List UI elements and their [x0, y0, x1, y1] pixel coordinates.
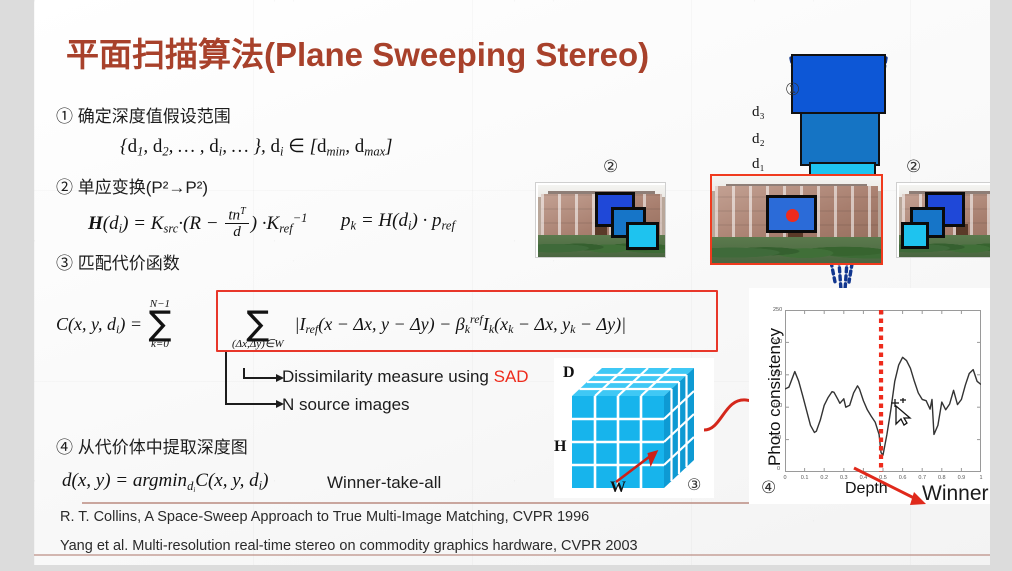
marker-warp-left: ② [603, 157, 618, 177]
chart-xtick-0.9: 0.9 [956, 475, 966, 481]
cost-volume-panel: D H W ③ [554, 358, 714, 498]
step-2: ② 单应变换(P²→P²) [56, 173, 208, 198]
annotation-n-source: N source images [282, 395, 410, 415]
warped-image-left-frame [535, 182, 666, 258]
annotation-dissimilarity: Dissimilarity measure using SAD [282, 367, 529, 387]
chart-ytick-200: 200 [773, 339, 782, 345]
slide-canvas: 平面扫描算法(Plane Sweeping Stereo) ① 确定深度值假设范… [34, 0, 990, 565]
chart-xtick-0: 0 [780, 475, 790, 481]
depth-label-2: d₂ [752, 131, 765, 148]
left-margin [0, 0, 34, 571]
cube-label-height: H [554, 438, 566, 456]
step-4: ④ 从代价体中提取深度图 [56, 433, 248, 458]
marker-warp-right: ② [906, 157, 921, 177]
depth-plane-2 [800, 112, 880, 166]
chart-y-axis-label: Photo consistency [765, 328, 785, 466]
marker-volume: ③ [687, 475, 701, 495]
reference-2: Yang et al. Multi-resolution real-time s… [60, 538, 638, 554]
marker-curve: ④ [761, 478, 776, 498]
annotation-bracket-icon [220, 352, 290, 414]
chart-xtick-1: 1 [976, 475, 986, 481]
winner-label: Winner [922, 482, 989, 506]
chart-xtick-0.2: 0.2 [819, 475, 829, 481]
step-4-marker: ④ [56, 438, 73, 457]
chart-ytick-250: 250 [773, 307, 782, 313]
page-title: 平面扫描算法(Plane Sweeping Stereo) [66, 28, 649, 76]
cube-label-width: W [610, 479, 626, 497]
step-1-label: 确定深度值假设范围 [78, 107, 231, 126]
chart-ytick-0: 0 [777, 466, 780, 472]
sigma-outer: N−1 ∑ k=0 [148, 299, 171, 350]
annotation-dissimilarity-text: Dissimilarity measure using [282, 367, 494, 386]
depth-label-3: d₃ [752, 104, 765, 121]
step-3-marker: ③ [56, 254, 73, 273]
bottom-divider [34, 554, 990, 556]
depth-plane-3 [791, 54, 886, 114]
sigma-outer-lower: k=0 [148, 339, 171, 350]
annotation-sad-label: SAD [494, 367, 529, 386]
cube-label-depth: D [563, 364, 575, 382]
sigma-inner: ∑ (Δx,Δy)∈W [232, 299, 284, 350]
chart-ytick-50: 50 [775, 435, 781, 441]
mouse-cursor-icon [889, 398, 915, 428]
chart-ytick-100: 100 [773, 403, 782, 409]
warped-image-right-frame [896, 182, 990, 258]
formula-point-map: pk = H(di) · pref [341, 210, 455, 234]
step-1: ① 确定深度值假设范围 [56, 102, 231, 127]
step-1-marker: ① [56, 107, 73, 126]
step-4-label: 从代价体中提取深度图 [78, 438, 248, 457]
step-2-label: 单应变换(P²→P²) [78, 178, 208, 197]
slide-screen: 平面扫描算法(Plane Sweeping Stereo) ① 确定深度值假设范… [0, 0, 1012, 571]
formula-argmin: d(x, y) = argmindiC(x, y, di) [62, 470, 268, 494]
chart-plot-area [785, 310, 981, 472]
chart-xtick-0.1: 0.1 [800, 475, 810, 481]
right-margin [990, 0, 1012, 571]
chart-ytick-150: 150 [773, 371, 782, 377]
reference-image-frame [710, 174, 883, 265]
bottom-margin [0, 565, 1012, 571]
warp-left-patch-near [626, 222, 658, 250]
formula-homography: H(di) = Ksrc·(R − tnTd) ·Kref−1 [88, 208, 307, 241]
formula-cost-lhs: C(x, y, di) = N−1 ∑ k=0 [56, 300, 173, 351]
step-3: ③ 匹配代价函数 [56, 249, 180, 274]
marker-frustum: ① [785, 80, 800, 100]
formula-cost-body: ∑ (Δx,Δy)∈W |Iref(x − Δx, y − Δy) − βkre… [230, 300, 626, 351]
depth-label-1: d₁ [752, 156, 765, 173]
annotation-winner-take-all: Winner-take-all [327, 473, 441, 493]
step-3-label: 匹配代价函数 [78, 254, 180, 273]
reference-1: R. T. Collins, A Space-Sweep Approach to… [60, 509, 589, 525]
step-2-marker: ② [56, 178, 73, 197]
warp-right-patch-near [901, 222, 929, 249]
formula-depth-set: {d1, d2, … , di, … }, di ∈ [dmin, dmax] [120, 135, 393, 160]
sigma-inner-lower: (Δx,Δy)∈W [232, 339, 284, 350]
